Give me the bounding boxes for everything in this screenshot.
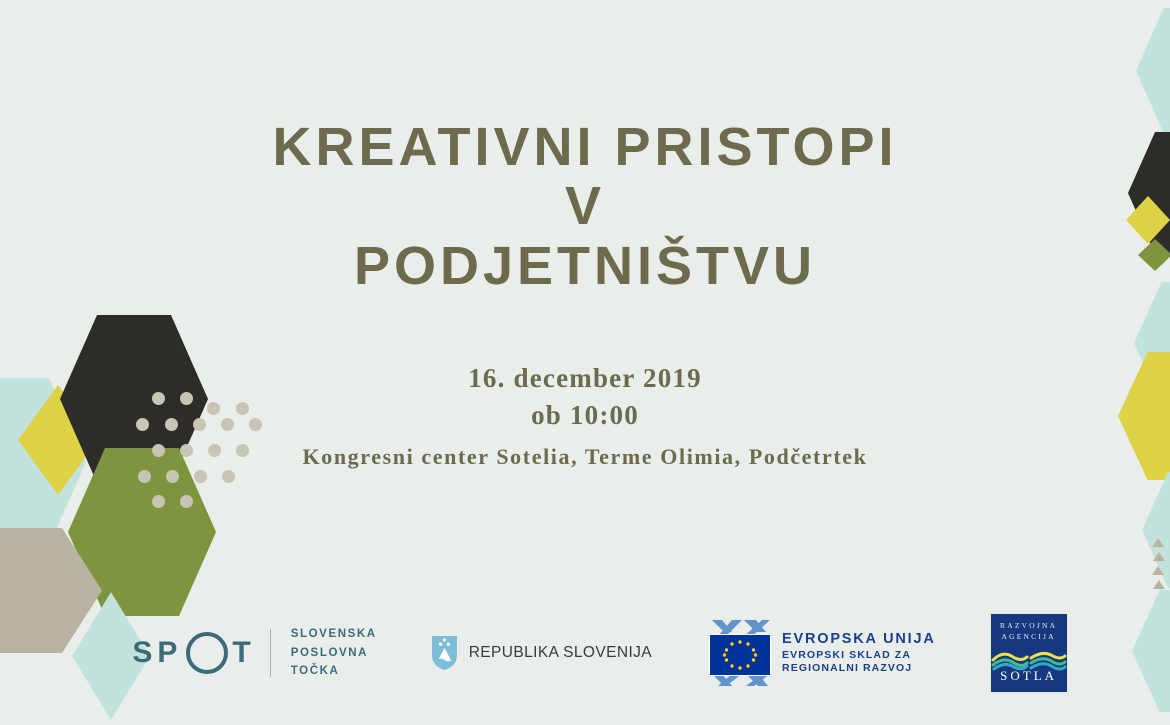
spot-word-3: TOČKA bbox=[291, 662, 377, 681]
decor-dot bbox=[180, 495, 193, 508]
spot-letter-t: T bbox=[232, 636, 255, 670]
title-line-2: V bbox=[0, 177, 1170, 236]
event-time: ob 10:00 bbox=[0, 397, 1170, 434]
eu-label-sub-2: REGIONALNI RAZVOJ bbox=[782, 662, 936, 675]
event-venue: Kongresni center Sotelia, Terme Olimia, … bbox=[0, 444, 1170, 470]
republika-slovenija-label: REPUBLIKA SLOVENIJA bbox=[469, 644, 652, 662]
eu-flag-field bbox=[709, 634, 771, 676]
sotla-top-text: RAZVOJNA AGENCIJA bbox=[991, 621, 1067, 642]
event-poster: KREATIVNI PRISTOPI V PODJETNIŠTVU 16. de… bbox=[0, 0, 1170, 725]
spot-wordmark: S P T bbox=[132, 632, 255, 674]
logo-spot: S P T SLOVENSKA POSLOVNA TOČKA bbox=[132, 625, 376, 681]
logo-european-union: EVROPSKA UNIJA EVROPSKI SKLAD ZA REGIONA… bbox=[706, 618, 936, 688]
decor-triangle bbox=[1153, 580, 1165, 589]
decor-triangle bbox=[1152, 566, 1164, 575]
sotla-line-2: AGENCIJA bbox=[991, 632, 1067, 643]
decor-hexagon-teal-topright bbox=[1136, 8, 1170, 133]
event-datetime: 16. december 2019 ob 10:00 bbox=[0, 360, 1170, 435]
spot-word-2: POSLOVNA bbox=[291, 644, 377, 663]
decor-triangle bbox=[1153, 552, 1165, 561]
spot-divider bbox=[270, 629, 271, 677]
spot-word-1: SLOVENSKA bbox=[291, 625, 377, 644]
eu-label-main: EVROPSKA UNIJA bbox=[782, 630, 936, 649]
decor-dot bbox=[194, 470, 207, 483]
decor-dot bbox=[222, 470, 235, 483]
slovenia-coat-of-arms-icon bbox=[431, 635, 458, 671]
eu-label-block: EVROPSKA UNIJA EVROPSKI SKLAD ZA REGIONA… bbox=[782, 630, 936, 675]
eu-flag-icon bbox=[706, 618, 772, 688]
sotla-bottom-text: SOTLA bbox=[991, 668, 1067, 684]
decor-dot bbox=[152, 495, 165, 508]
sotla-logo-box: RAZVOJNA AGENCIJA SOTLA bbox=[990, 613, 1068, 693]
spot-letter-s: S bbox=[132, 636, 157, 670]
logo-razvojna-agencija-sotla: RAZVOJNA AGENCIJA SOTLA bbox=[990, 613, 1068, 693]
title-line-3: PODJETNIŠTVU bbox=[0, 237, 1170, 296]
decor-dot bbox=[138, 470, 151, 483]
spot-letter-p: P bbox=[157, 636, 182, 670]
title-line-1: KREATIVNI PRISTOPI bbox=[0, 118, 1170, 177]
logo-republika-slovenija: REPUBLIKA SLOVENIJA bbox=[431, 635, 652, 671]
eu-label-sub-1: EVROPSKI SKLAD ZA bbox=[782, 649, 936, 662]
spot-circle-icon bbox=[186, 632, 228, 674]
event-date: 16. december 2019 bbox=[0, 360, 1170, 397]
page-title: KREATIVNI PRISTOPI V PODJETNIŠTVU bbox=[0, 118, 1170, 296]
logo-bar: S P T SLOVENSKA POSLOVNA TOČKA bbox=[0, 603, 1170, 703]
decor-triangle bbox=[1152, 538, 1164, 547]
sotla-line-1: RAZVOJNA bbox=[991, 621, 1067, 632]
decor-dot bbox=[166, 470, 179, 483]
spot-subtitle: SLOVENSKA POSLOVNA TOČKA bbox=[291, 625, 377, 681]
